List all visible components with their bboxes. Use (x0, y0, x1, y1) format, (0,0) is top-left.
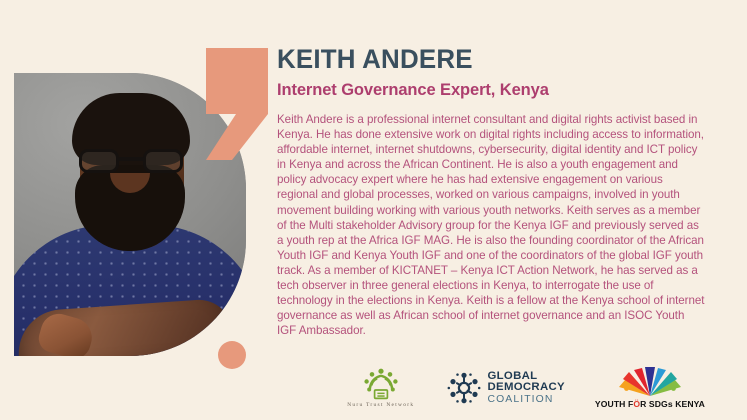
logo-gdc-line3: COALITION (488, 395, 565, 405)
accent-circle-icon (218, 341, 246, 369)
logo-youth-for-sdgs-kenya: YOUTH FÖR SDGs KENYA (595, 367, 705, 409)
logo-gdc-wordmark: GLOBAL DEMOCRACY COALITION (488, 371, 565, 405)
speaker-name: KEITH ANDERE (277, 44, 688, 74)
logo-global-democracy-coalition: GLOBAL DEMOCRACY COALITION (447, 371, 565, 405)
logo-youth-caption-before: YOUTH F (595, 399, 633, 409)
portrait-photo (14, 73, 246, 356)
logo-youth-caption: YOUTH FÖR SDGs KENYA (595, 399, 705, 409)
portrait-glasses-icon (79, 149, 183, 173)
logo-nuru-caption: Nuru Trust Network (347, 402, 414, 408)
partner-logos: Nuru Trust Network (345, 360, 705, 416)
logo-youth-caption-after: R SDGs KENYA (640, 399, 705, 409)
colorful-fan-people-logo-icon (614, 367, 686, 397)
speaker-text-block: KEITH ANDERE Internet Governance Expert,… (277, 44, 705, 338)
speaker-bio: Keith Andere is a professional internet … (277, 112, 705, 338)
speaker-role: Internet Governance Expert, Kenya (277, 81, 705, 100)
logo-nuru-trust-network: Nuru Trust Network (345, 368, 417, 408)
speaker-portrait (14, 73, 246, 356)
speaker-profile-card: KEITH ANDERE Internet Governance Expert,… (0, 0, 747, 420)
logo-gdc-line2: DEMOCRACY (488, 382, 565, 393)
network-nodes-logo-icon (447, 371, 481, 405)
tree-people-logo-icon (362, 368, 400, 400)
